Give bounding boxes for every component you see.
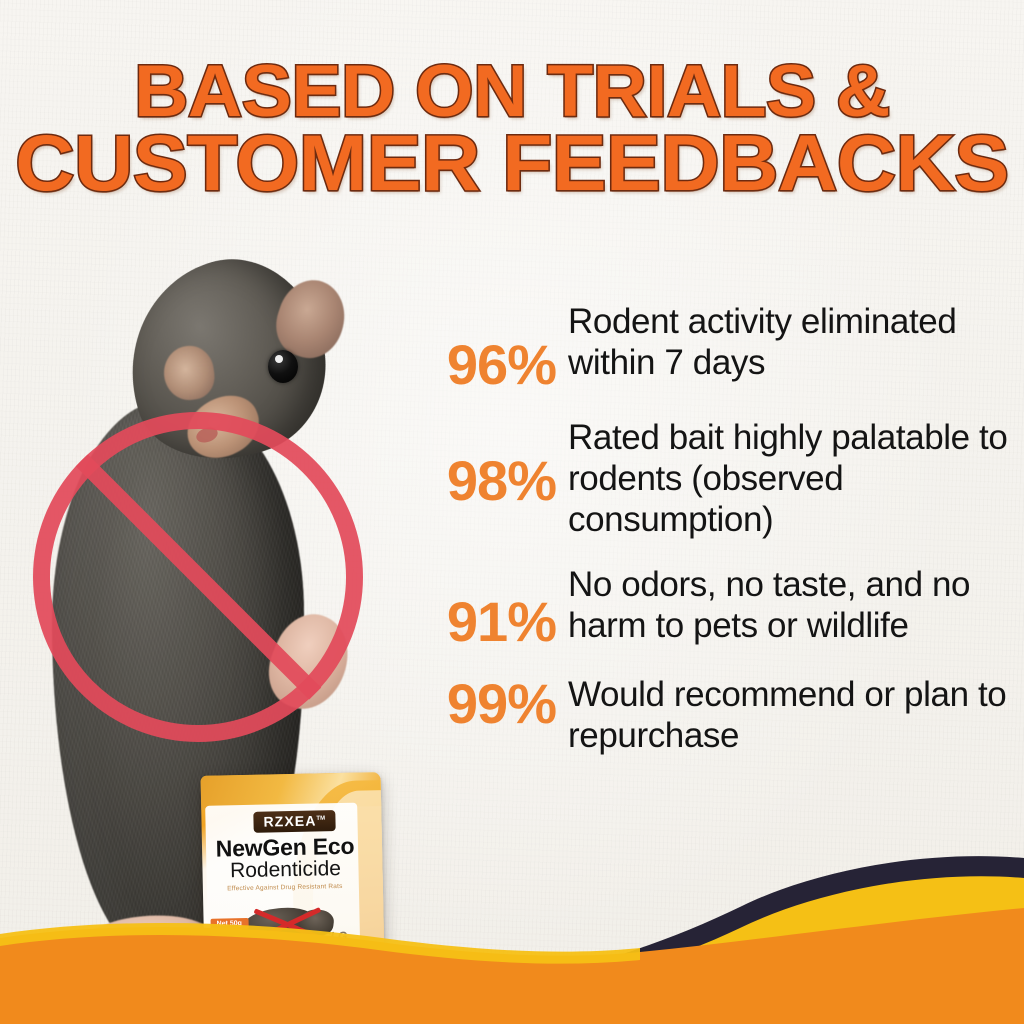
stat-description: Would recommend or plan to repurchase bbox=[568, 673, 1022, 757]
stat-row: 91% No odors, no taste, and no harm to p… bbox=[404, 563, 1022, 651]
infographic-poster: RZ RZ BASED ON TRIALS & CUSTOMER FEEDBAC… bbox=[0, 0, 1024, 1024]
stat-percent: 91% bbox=[404, 593, 568, 651]
stat-row: 99% Would recommend or plan to repurchas… bbox=[404, 673, 1022, 757]
page-title-line-1: BASED ON TRIALS & bbox=[0, 58, 1024, 125]
stat-description: No odors, no taste, and no harm to pets … bbox=[568, 563, 1022, 647]
stat-description: Rodent activity eliminated within 7 days bbox=[568, 300, 1022, 384]
stat-row: 98% Rated bait highly palatable to roden… bbox=[404, 416, 1022, 541]
page-title: BASED ON TRIALS & CUSTOMER FEEDBACKS bbox=[0, 58, 1024, 200]
package-fine-print: Use only as directed. Keep out of reach … bbox=[226, 959, 354, 977]
stat-percent: 96% bbox=[404, 336, 568, 394]
statistics-list: 96% Rodent activity eliminated within 7 … bbox=[404, 300, 1022, 779]
product-package: RZXEATM NewGen Eco Rodenticide Effective… bbox=[201, 772, 386, 1014]
package-bottom-edge bbox=[205, 990, 385, 1014]
package-net-weight: Net 50g bbox=[211, 918, 250, 930]
package-brand: RZXEATM bbox=[253, 810, 335, 833]
stat-percent: 98% bbox=[404, 452, 568, 510]
package-product-type: Rodenticide bbox=[202, 856, 368, 883]
rat-eye bbox=[268, 350, 298, 383]
stat-percent: 99% bbox=[404, 675, 568, 733]
package-brand-text: RZXEA bbox=[263, 812, 316, 829]
page-title-line-2: CUSTOMER FEEDBACKS bbox=[0, 127, 1024, 200]
stat-row: 96% Rodent activity eliminated within 7 … bbox=[404, 300, 1022, 394]
package-logo-mark: CLG bbox=[322, 929, 348, 944]
package-brand-tm: TM bbox=[316, 816, 325, 822]
stat-description: Rated bait highly palatable to rodents (… bbox=[568, 416, 1022, 541]
no-rodents-icon bbox=[33, 412, 363, 742]
